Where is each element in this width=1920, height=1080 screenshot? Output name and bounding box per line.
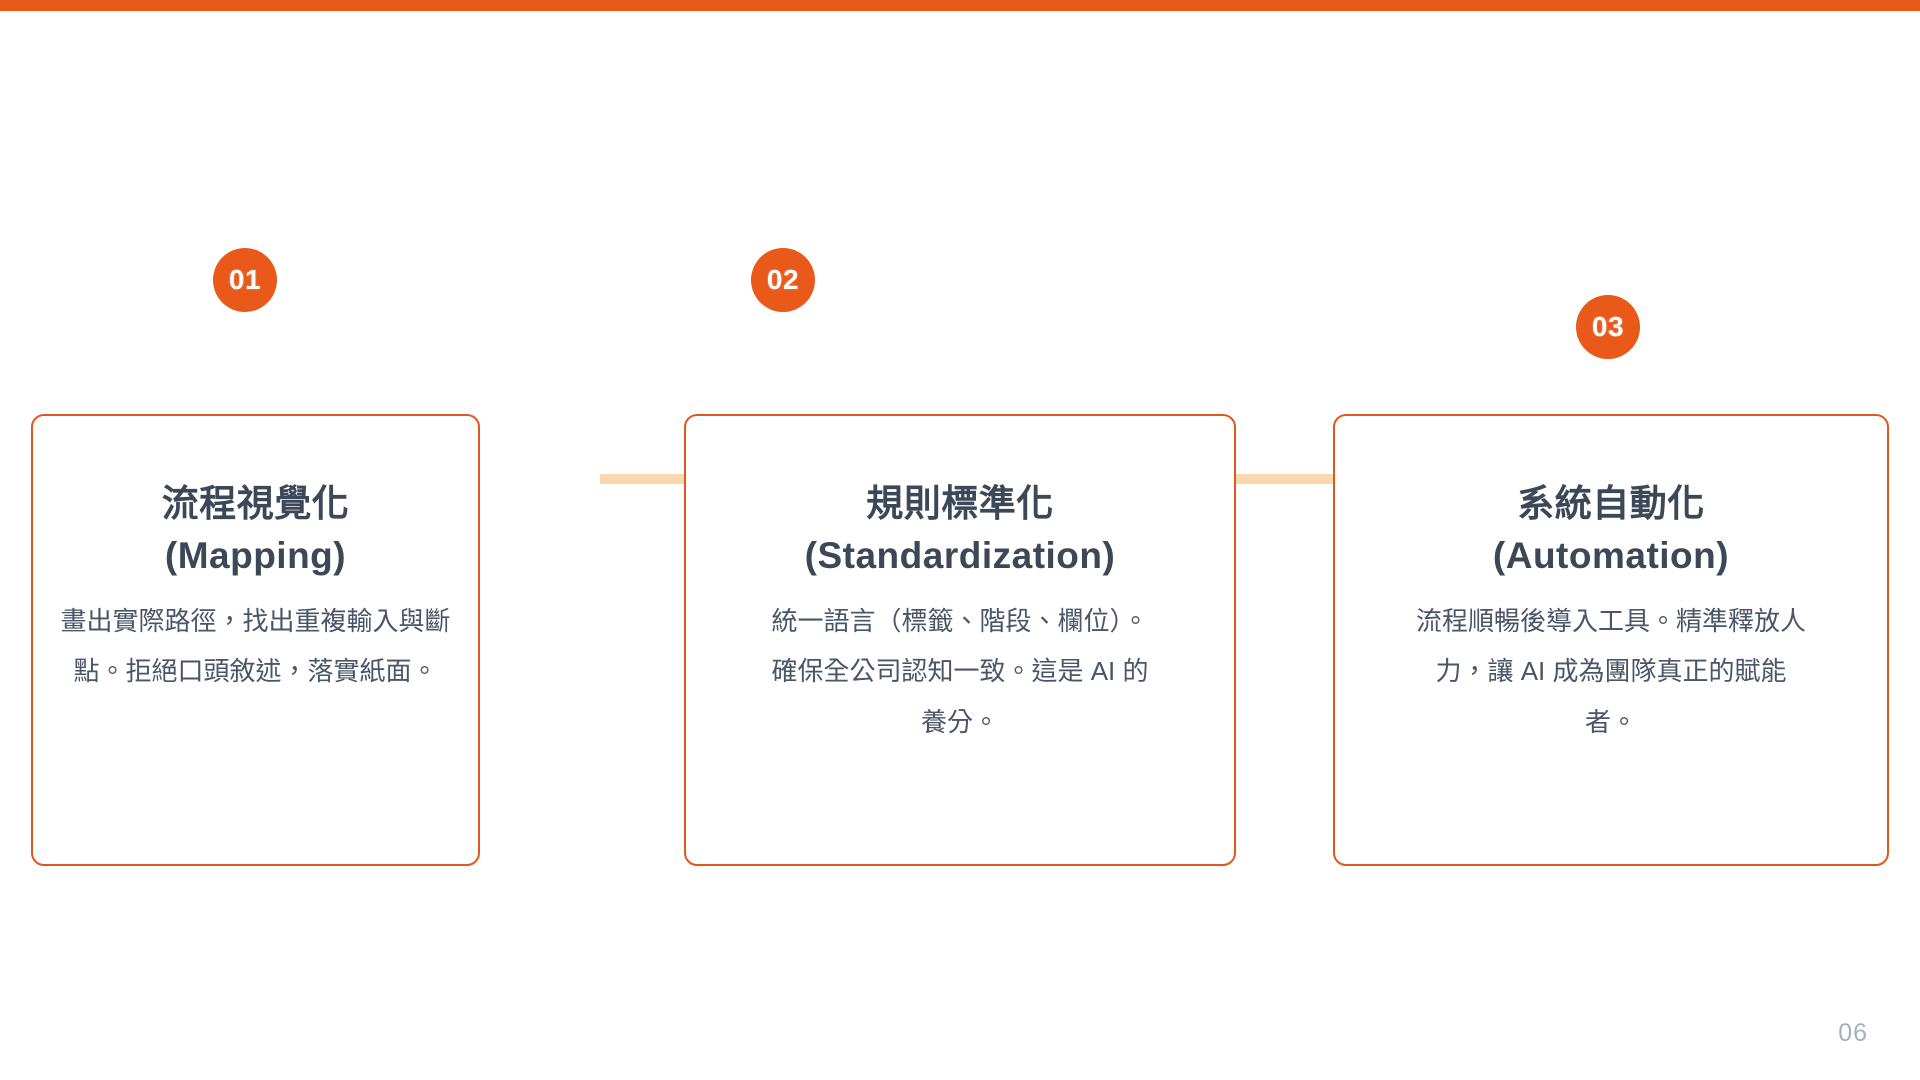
- page-number: 06: [1838, 1019, 1868, 1048]
- step-title-en: (Standardization): [805, 530, 1116, 582]
- step-body-02: 統一語言（標籤、階段、欄位）。確保全公司認知一致。這是 AI 的養分。: [760, 582, 1160, 748]
- step-title-en: (Mapping): [162, 530, 350, 582]
- step-badge-03: 03: [1576, 295, 1640, 359]
- step-title-01: 流程視覺化 (Mapping): [162, 416, 350, 582]
- step-card-01[interactable]: 流程視覺化 (Mapping) 畫出實際路徑，找出重複輸入與斷點。拒絕口頭敘述，…: [31, 414, 480, 866]
- step-badge-label: 03: [1592, 311, 1624, 343]
- step-title-en: (Automation): [1493, 530, 1729, 582]
- step-body-01: 畫出實際路徑，找出重複輸入與斷點。拒絕口頭敘述，落實紙面。: [59, 582, 452, 697]
- step-badge-label: 02: [767, 264, 799, 296]
- slide-stage: 01 流程視覺化 (Mapping) 畫出實際路徑，找出重複輸入與斷點。拒絕口頭…: [0, 0, 1920, 1080]
- step-card-02[interactable]: 規則標準化 (Standardization) 統一語言（標籤、階段、欄位）。確…: [684, 414, 1236, 866]
- step-badge-02: 02: [751, 248, 815, 312]
- step-title-zh: 流程視覺化: [162, 478, 350, 530]
- step-title-03: 系統自動化 (Automation): [1493, 416, 1729, 582]
- step-badge-01: 01: [213, 248, 277, 312]
- step-body-03: 流程順暢後導入工具。精準釋放人力，讓 AI 成為團隊真正的賦能者。: [1411, 582, 1811, 748]
- step-badge-label: 01: [229, 264, 261, 296]
- step-title-zh: 系統自動化: [1493, 478, 1729, 530]
- step-card-03[interactable]: 系統自動化 (Automation) 流程順暢後導入工具。精準釋放人力，讓 AI…: [1333, 414, 1889, 866]
- step-title-02: 規則標準化 (Standardization): [805, 416, 1116, 582]
- step-title-zh: 規則標準化: [805, 478, 1116, 530]
- top-accent-bar: [0, 0, 1920, 11]
